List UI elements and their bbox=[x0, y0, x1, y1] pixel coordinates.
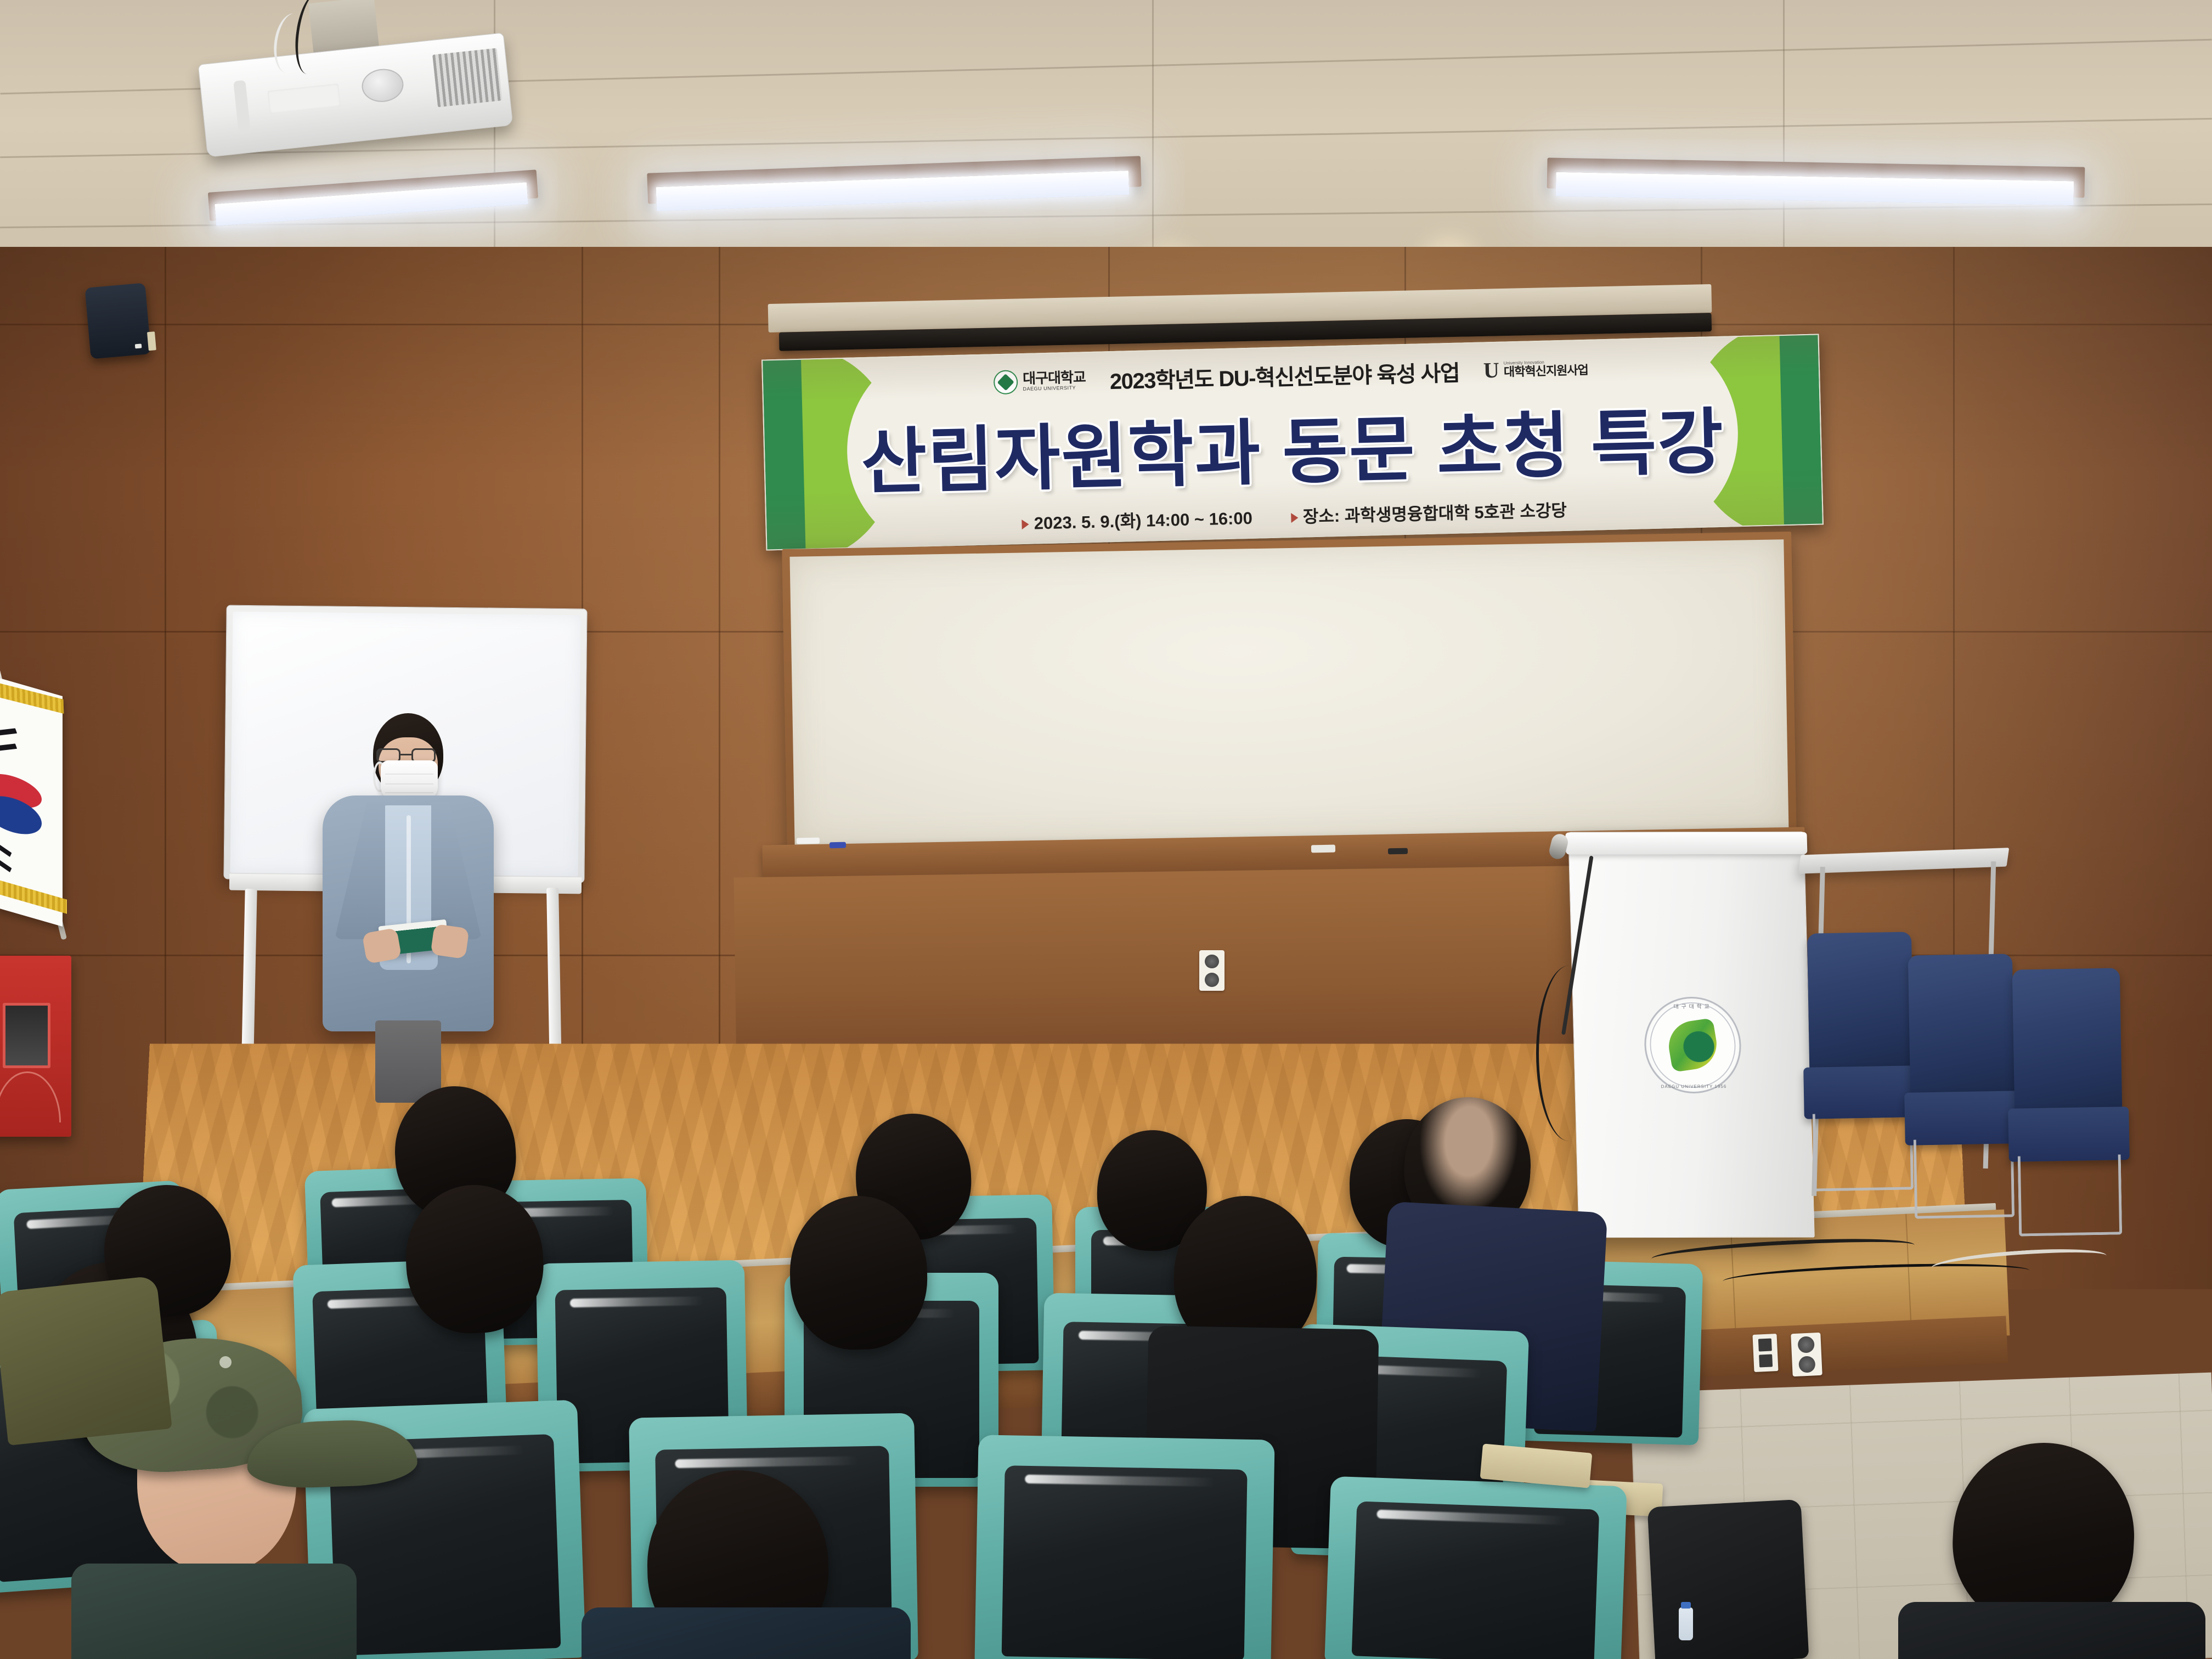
daegu-university-logo-korean: 대구대학교 bbox=[1023, 370, 1086, 386]
stack-chair-2[interactable] bbox=[1908, 953, 2017, 1218]
eraser[interactable] bbox=[1311, 845, 1335, 853]
presenter-trousers bbox=[375, 1020, 441, 1103]
podium-cable bbox=[1536, 966, 1602, 1141]
marker-black[interactable] bbox=[1388, 848, 1408, 855]
backpack bbox=[1647, 1499, 1809, 1659]
stage-outlet[interactable] bbox=[1791, 1333, 1822, 1376]
wall-outlet-center[interactable] bbox=[1199, 950, 1224, 991]
stage-light-switch[interactable] bbox=[1752, 1334, 1778, 1372]
daegu-university-mark-icon bbox=[994, 370, 1018, 394]
stack-chair-3[interactable] bbox=[2012, 968, 2124, 1236]
wall-speaker bbox=[85, 283, 151, 359]
stack-chair-1[interactable] bbox=[1807, 932, 1916, 1191]
audience-torso bbox=[582, 1607, 911, 1659]
fire-extinguisher-cabinet[interactable] bbox=[0, 956, 71, 1137]
marker-blue[interactable] bbox=[830, 842, 846, 849]
lecture-hall-photo: 대구대학교 DAEGU UNIVERSITY 2023학년도 DU-혁신선도분야… bbox=[0, 0, 2212, 1659]
daegu-university-logo-english: DAEGU UNIVERSITY bbox=[1023, 385, 1086, 392]
podium-top bbox=[1565, 832, 1807, 855]
banner-program-line: 2023학년도 DU-혁신선도분야 육성 사업 bbox=[1109, 355, 1460, 396]
projector-vent bbox=[432, 48, 502, 108]
water-bottle[interactable] bbox=[1679, 1607, 1693, 1640]
marker-white[interactable] bbox=[797, 838, 820, 844]
university-innovation-logo: U University Innovation 대학혁신지원사업 bbox=[1483, 358, 1589, 380]
emblem-top-text: 대 구 대 학 교 bbox=[1645, 1002, 1738, 1010]
emblem-bottom-text: DAEGU UNIVERSITY 1956 bbox=[1647, 1084, 1740, 1089]
u-mark-icon: U bbox=[1483, 360, 1500, 380]
bullet-triangle-icon bbox=[1291, 513, 1298, 523]
audience-torso bbox=[71, 1564, 357, 1659]
university-innovation-korean: 대학혁신지원사업 bbox=[1504, 364, 1588, 379]
audience-torso bbox=[1898, 1602, 2205, 1659]
bullet-triangle-icon bbox=[1022, 520, 1029, 529]
banner-location: 장소: 과학생명융합대학 5호관 소강당 bbox=[1290, 496, 1567, 527]
extinguisher-decal bbox=[0, 1071, 61, 1122]
extinguisher-window bbox=[3, 1003, 50, 1068]
projection-screen bbox=[782, 532, 1796, 856]
presenter bbox=[323, 713, 494, 1108]
projection-screen-surface bbox=[789, 539, 1788, 849]
projector-lens bbox=[360, 67, 405, 104]
podium: 대 구 대 학 교 DAEGU UNIVERSITY 1956 bbox=[1568, 832, 1814, 1238]
speaker-bracket bbox=[147, 331, 156, 351]
banner-datetime: 2023. 5. 9.(화) 14:00 ~ 16:00 bbox=[1022, 504, 1252, 534]
audience-torso-olive bbox=[0, 1276, 172, 1446]
cap-button bbox=[219, 1356, 232, 1368]
podium-emblem: 대 구 대 학 교 DAEGU UNIVERSITY 1956 bbox=[1643, 997, 1742, 1093]
daegu-university-logo: 대구대학교 DAEGU UNIVERSITY bbox=[994, 368, 1086, 394]
presenter-hand-right bbox=[430, 924, 469, 959]
speaker-led bbox=[135, 343, 142, 348]
audience-seat[interactable] bbox=[1324, 1476, 1627, 1659]
event-banner: 대구대학교 DAEGU UNIVERSITY 2023학년도 DU-혁신선도분야… bbox=[761, 334, 1824, 550]
banner-headline: 산림자원학과 동문 초청 특강 bbox=[860, 383, 1725, 507]
audience-seat[interactable] bbox=[974, 1435, 1274, 1659]
